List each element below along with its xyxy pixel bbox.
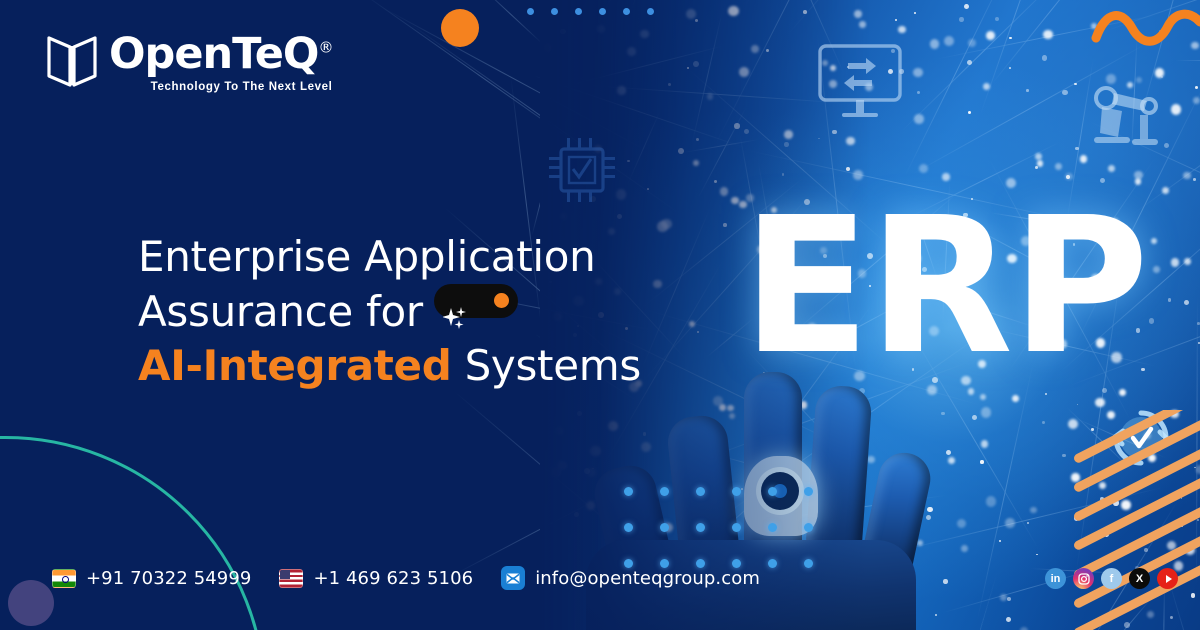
monitor-transfer-icon xyxy=(818,44,902,122)
headline-line-1: Enterprise Application xyxy=(138,230,641,284)
ai-sparkle-badge[interactable] xyxy=(434,284,518,318)
feature-word-erp: ERP xyxy=(742,208,1147,366)
youtube-icon[interactable] xyxy=(1157,568,1178,589)
brand-tagline: Technology To The Next Level xyxy=(109,81,332,93)
badge-status-dot xyxy=(494,293,509,308)
headline-line-2: Assurance for xyxy=(138,287,423,336)
contact-email-value: info@openteqgroup.com xyxy=(535,568,760,589)
orange-circle-decor xyxy=(441,9,479,47)
instagram-icon[interactable] xyxy=(1073,568,1094,589)
facebook-label: f xyxy=(1110,573,1114,585)
orange-diagonal-stripes-decor xyxy=(1070,410,1200,630)
cpu-chip-check-icon xyxy=(545,133,623,211)
x-label: X xyxy=(1136,573,1143,585)
headline-line-3-rest: Systems xyxy=(465,341,641,390)
contact-phone-india-value: +91 70322 54999 xyxy=(86,568,251,589)
headline-highlight: AI-Integrated xyxy=(138,341,452,390)
linkedin-label: in xyxy=(1051,573,1061,585)
headline-line-2-wrap: Assurance for xyxy=(138,284,641,339)
linkedin-icon[interactable]: in xyxy=(1045,568,1066,589)
marketing-banner: ERP OpenTeQ® Technology To The Next Leve… xyxy=(0,0,1200,630)
contact-phone-india[interactable]: +91 70322 54999 xyxy=(52,568,251,589)
headline-line-3-wrap: AI-Integrated Systems xyxy=(138,339,641,393)
brand-logo[interactable]: OpenTeQ® Technology To The Next Level xyxy=(46,33,332,93)
registered-mark: ® xyxy=(318,39,332,57)
sparkle-icon xyxy=(443,289,469,313)
purple-circle-decor xyxy=(8,580,54,626)
contact-bar: +91 70322 54999 +1 469 623 5106 info@ope… xyxy=(52,566,760,590)
blue-dot-row-decor xyxy=(527,8,654,15)
x-twitter-icon[interactable]: X xyxy=(1129,568,1150,589)
contact-email[interactable]: info@openteqgroup.com xyxy=(501,566,760,590)
headline: Enterprise Application Assurance for AI-… xyxy=(138,230,641,392)
facebook-icon[interactable]: f xyxy=(1101,568,1122,589)
india-flag-icon xyxy=(52,569,76,588)
social-links: in f X xyxy=(1045,568,1178,589)
contact-phone-usa[interactable]: +1 469 623 5106 xyxy=(279,568,473,589)
openteq-book-mark-icon xyxy=(46,33,98,89)
orange-wave-decor xyxy=(1080,4,1200,56)
contact-phone-usa-value: +1 469 623 5106 xyxy=(313,568,473,589)
usa-flag-icon xyxy=(279,569,303,588)
robot-arm-icon xyxy=(1092,85,1162,153)
envelope-icon xyxy=(501,566,525,590)
brand-name: OpenTeQ® xyxy=(109,33,332,76)
